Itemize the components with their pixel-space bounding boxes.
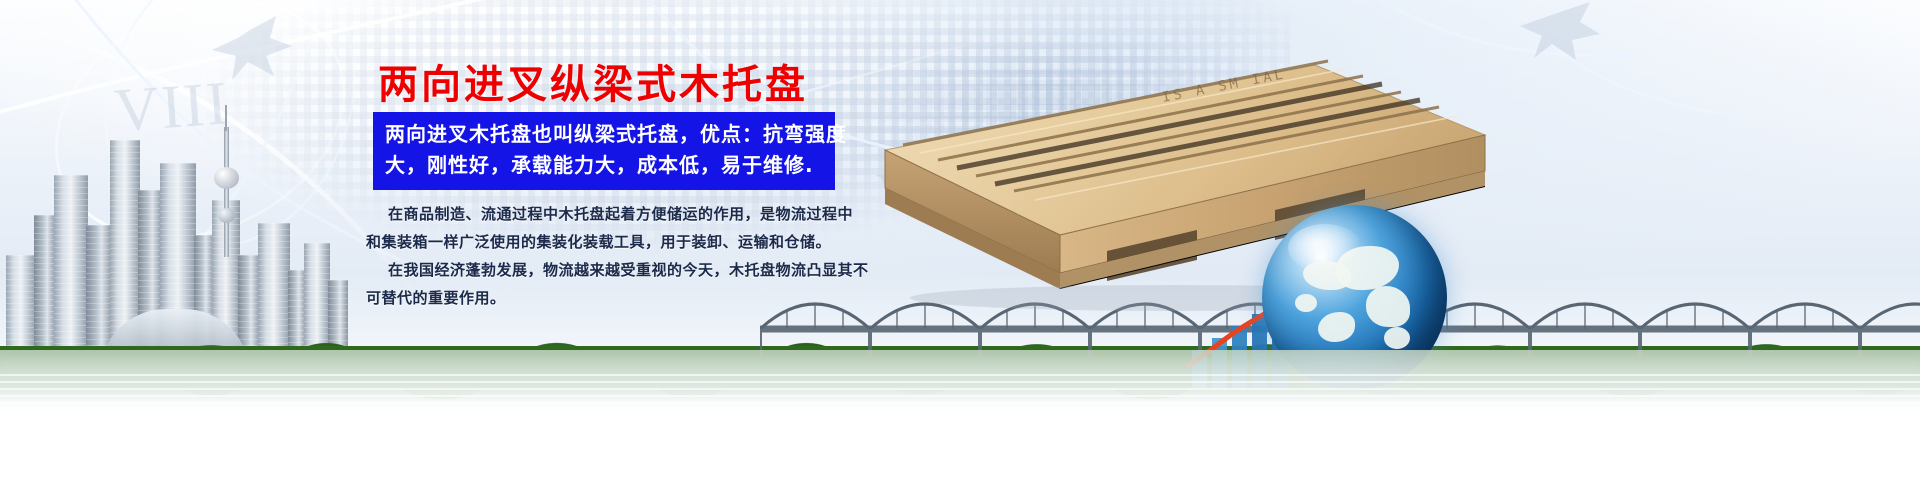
highlight-line-1: 两向进叉木托盘也叫纵梁式托盘，优点：抗弯强度 [385,119,825,150]
body-line-2: 和集装箱一样广泛使用的集装化装载工具，用于装卸、运输和仓储。 [366,228,866,256]
body-line-4: 可替代的重要作用。 [366,284,866,312]
body-line-1: 在商品制造、流通过程中木托盘起着方便储运的作用，是物流过程中 [366,200,866,228]
body-paragraph: 在商品制造、流通过程中木托盘起着方便储运的作用，是物流过程中 和集装箱一样广泛使… [366,200,866,312]
body-line-3: 在我国经济蓬勃发展，物流越来越受重视的今天，木托盘物流凸显其不 [366,256,866,284]
water-ripple-lines [0,374,1920,466]
highlight-callout-box: 两向进叉木托盘也叫纵梁式托盘，优点：抗弯强度 大，刚性好，承载能力大，成本低，易… [373,112,835,190]
banner-root: VIII VIII [0,0,1920,500]
page-title: 两向进叉纵梁式木托盘 [378,52,808,110]
highlight-line-2: 大，刚性好，承载能力大，成本低，易于维修. [385,150,825,181]
